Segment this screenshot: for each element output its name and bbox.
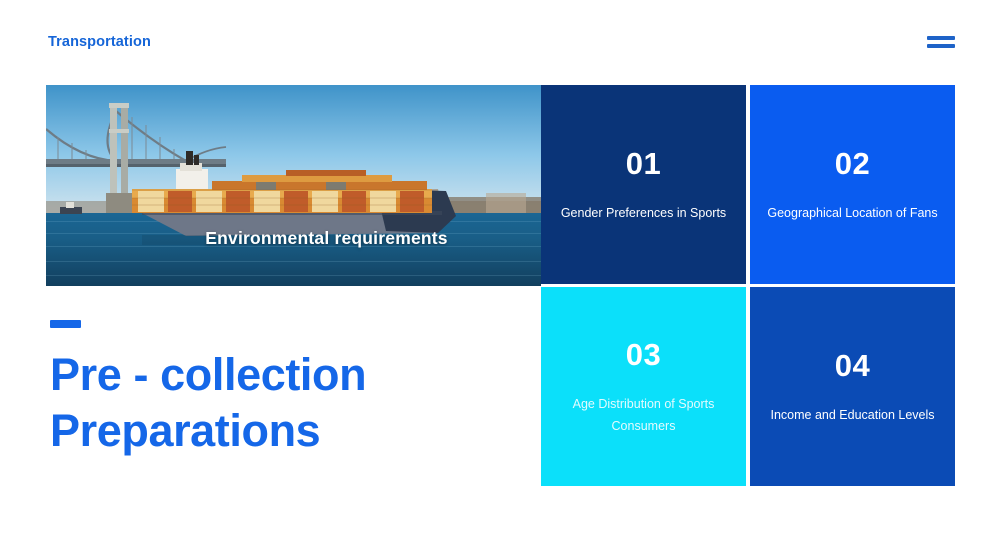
title-block: Pre - collection Preparations [50,320,520,459]
tile-01[interactable]: 01 Gender Preferences in Sports [541,85,746,284]
brand-title: Transportation [48,34,151,50]
tile-03-label: Age Distribution of Sports Consumers [557,393,730,437]
menu-bar-bottom [927,44,955,48]
tile-02[interactable]: 02 Geographical Location of Fans [750,85,955,284]
tile-02-label: Geographical Location of Fans [767,202,937,224]
hamburger-menu-icon[interactable] [927,36,955,52]
ship-bridge-illustration [46,85,541,286]
tile-03[interactable]: 03 Age Distribution of Sports Consumers [541,287,746,486]
page-header: Transportation [0,0,993,84]
hero-photo: Environmental requirements [46,85,541,286]
tile-01-label: Gender Preferences in Sports [561,202,726,224]
topic-tiles-grid: 01 Gender Preferences in Sports 02 Geogr… [541,85,956,486]
photo-caption: Environmental requirements [46,228,541,249]
tile-04[interactable]: 04 Income and Education Levels [750,287,955,486]
tile-02-number: 02 [835,146,870,182]
tile-01-number: 01 [626,146,661,182]
page-title: Pre - collection Preparations [50,347,520,459]
tile-03-number: 03 [626,337,661,373]
menu-bar-top [927,36,955,40]
tile-04-number: 04 [835,348,870,384]
tile-04-label: Income and Education Levels [771,404,935,426]
accent-dash-icon [50,320,81,328]
